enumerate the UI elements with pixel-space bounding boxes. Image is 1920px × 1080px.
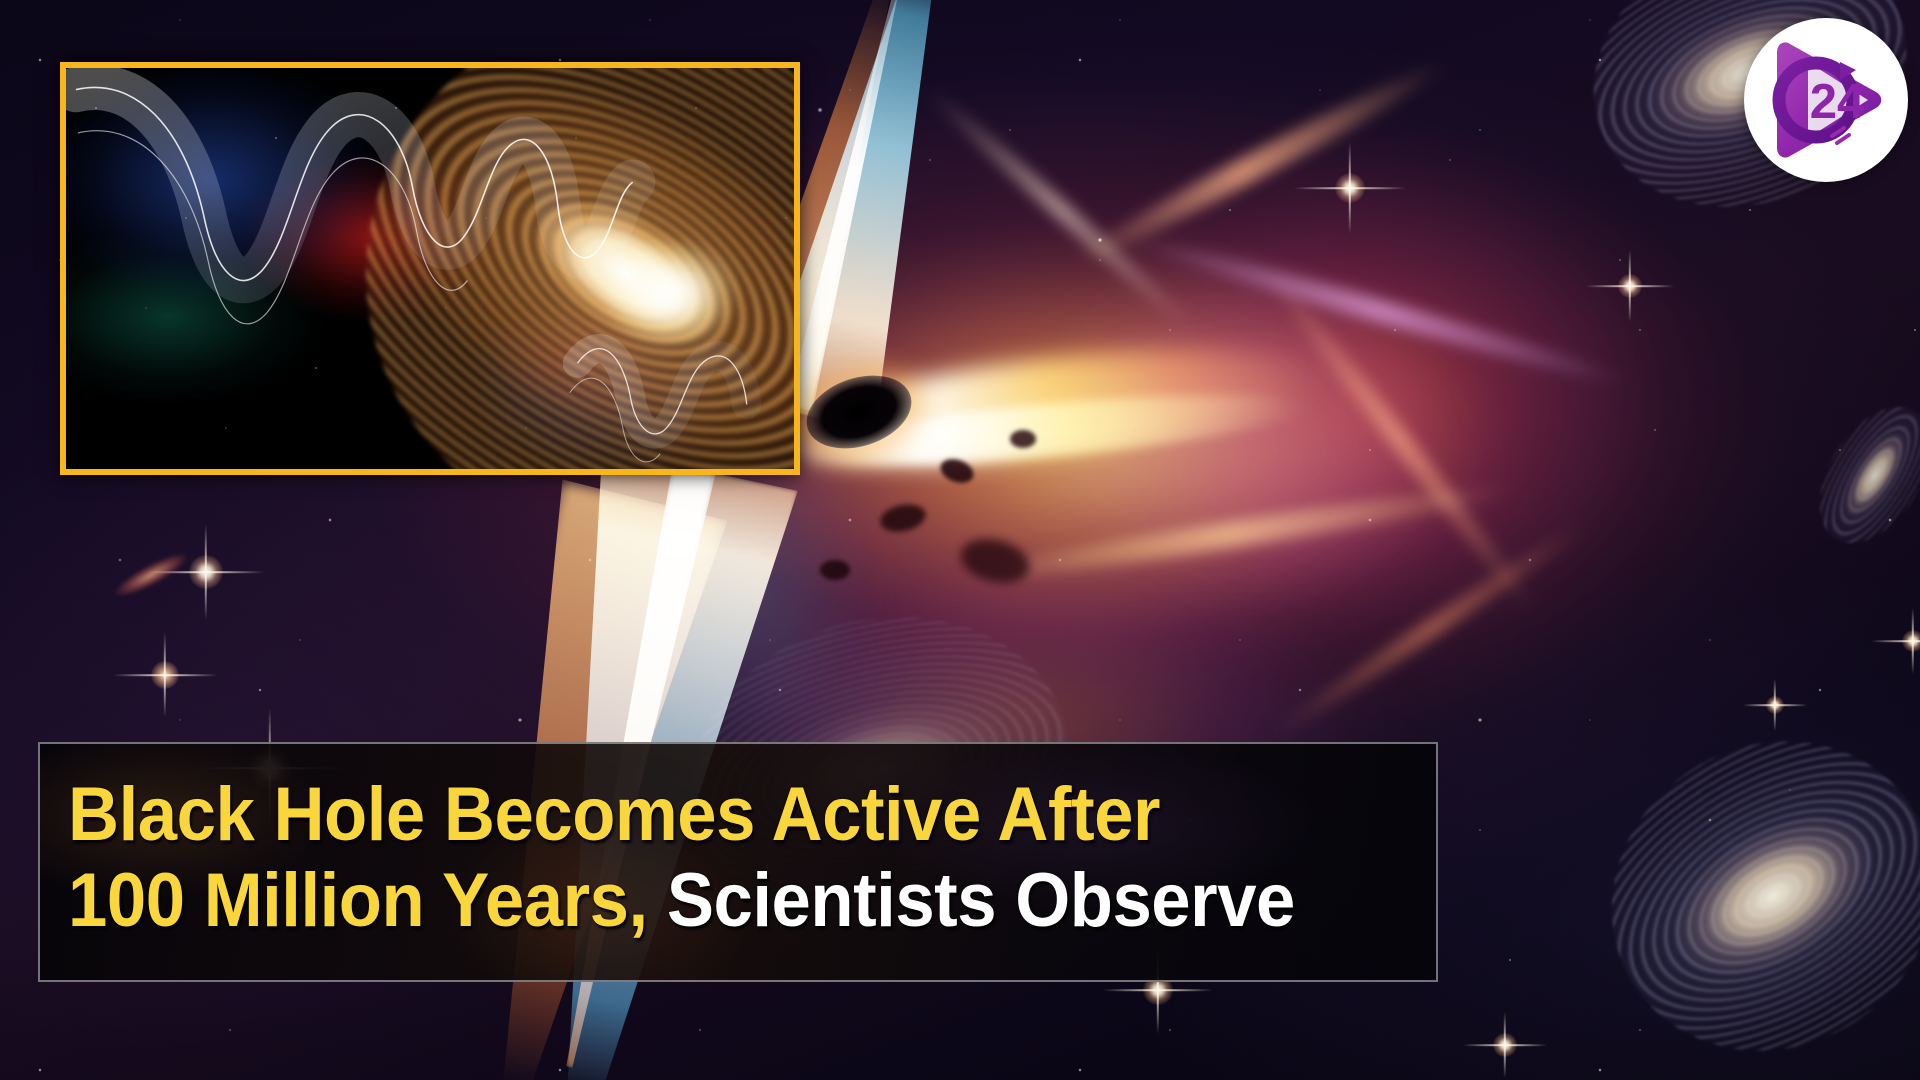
logo-mark-icon: 24 [1744, 18, 1908, 182]
dust-cloud [820, 560, 850, 580]
headline-banner: Black Hole Becomes Active After 100 Mill… [38, 742, 1438, 982]
inset-image-frame [60, 62, 800, 475]
thumbnail-canvas: Black Hole Becomes Active After 100 Mill… [0, 0, 1920, 1080]
channel-logo-badge[interactable]: 24 [1744, 18, 1908, 182]
logo-number: 24 [1810, 75, 1865, 129]
headline-plain: Scientists Observe [648, 858, 1295, 943]
headline-highlight: 100 Million Years, [68, 858, 648, 943]
headline-line-1: Black Hole Becomes Active After [68, 772, 1340, 858]
headline-line-2: 100 Million Years, Scientists Observe [68, 858, 1340, 944]
inset-galactic-nucleus [586, 218, 756, 368]
dust-cloud [1010, 430, 1036, 448]
